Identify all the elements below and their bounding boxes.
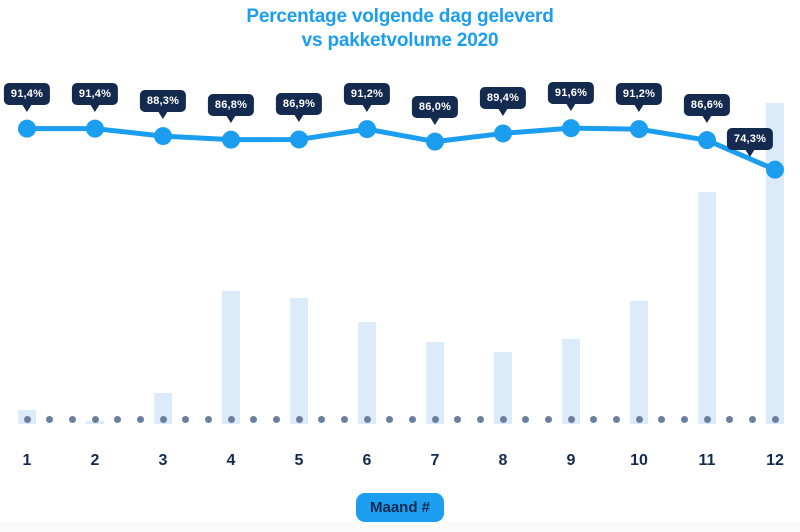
line-path: [27, 128, 775, 170]
x-tick-1: 1: [23, 452, 32, 470]
data-label-month-2: 91,4%: [72, 83, 118, 105]
chart-container: Percentage volgende dag geleverd vs pakk…: [0, 0, 800, 532]
line-marker-month-1[interactable]: [18, 120, 36, 138]
x-tick-12: 12: [766, 452, 784, 470]
plot-area: 91,4%91,4%88,3%86,8%86,9%91,2%86,0%89,4%…: [0, 0, 800, 440]
line-marker-month-2[interactable]: [86, 120, 104, 138]
x-tick-7: 7: [431, 452, 440, 470]
data-label-month-1: 91,4%: [4, 83, 50, 105]
data-label-month-4: 86,8%: [208, 94, 254, 116]
x-tick-2: 2: [91, 452, 100, 470]
bottom-band: [0, 522, 800, 532]
line-marker-month-11[interactable]: [698, 131, 716, 149]
line-marker-month-10[interactable]: [630, 120, 648, 138]
data-label-month-9: 91,6%: [548, 82, 594, 104]
line-marker-month-9[interactable]: [562, 119, 580, 137]
x-tick-10: 10: [630, 452, 648, 470]
x-axis-title-pill[interactable]: Maand #: [356, 493, 444, 522]
line-marker-month-3[interactable]: [154, 127, 172, 145]
line-marker-month-5[interactable]: [290, 130, 308, 148]
line-marker-month-7[interactable]: [426, 133, 444, 151]
data-label-month-12: 74,3%: [727, 128, 773, 150]
data-label-month-10: 91,2%: [616, 83, 662, 105]
x-tick-9: 9: [567, 452, 576, 470]
line-marker-month-12[interactable]: [766, 161, 784, 179]
data-label-month-5: 86,9%: [276, 93, 322, 115]
line-marker-month-8[interactable]: [494, 124, 512, 142]
x-tick-4: 4: [227, 452, 236, 470]
data-label-month-3: 88,3%: [140, 90, 186, 112]
line-marker-month-4[interactable]: [222, 131, 240, 149]
data-label-month-7: 86,0%: [412, 96, 458, 118]
x-tick-8: 8: [499, 452, 508, 470]
x-tick-6: 6: [363, 452, 372, 470]
data-label-month-6: 91,2%: [344, 83, 390, 105]
x-tick-3: 3: [159, 452, 168, 470]
x-tick-11: 11: [699, 452, 716, 470]
line-marker-month-6[interactable]: [358, 120, 376, 138]
data-label-month-8: 89,4%: [480, 87, 526, 109]
x-axis: 123456789101112: [0, 452, 800, 482]
x-tick-5: 5: [295, 452, 304, 470]
data-label-month-11: 86,6%: [684, 94, 730, 116]
line-series-layer: [0, 0, 800, 440]
